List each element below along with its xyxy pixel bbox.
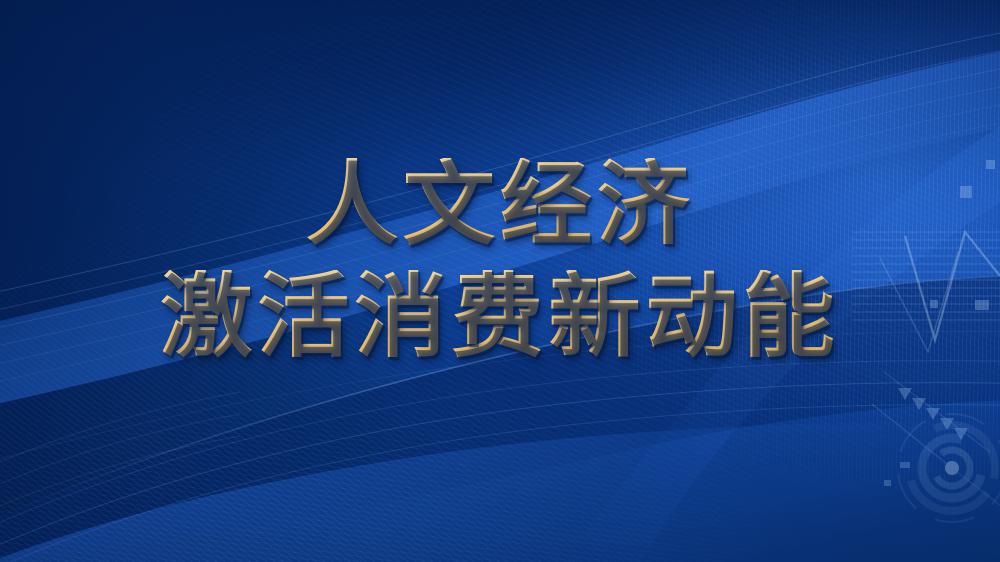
poster-title-block: 人文经济 激活消费新动能 (0, 158, 1000, 362)
poster-title-line-2: 激活消费新动能 (160, 270, 839, 362)
banner-poster: 人文经济 激活消费新动能 (0, 0, 1000, 562)
poster-title-line-1: 人文经济 (306, 158, 694, 250)
